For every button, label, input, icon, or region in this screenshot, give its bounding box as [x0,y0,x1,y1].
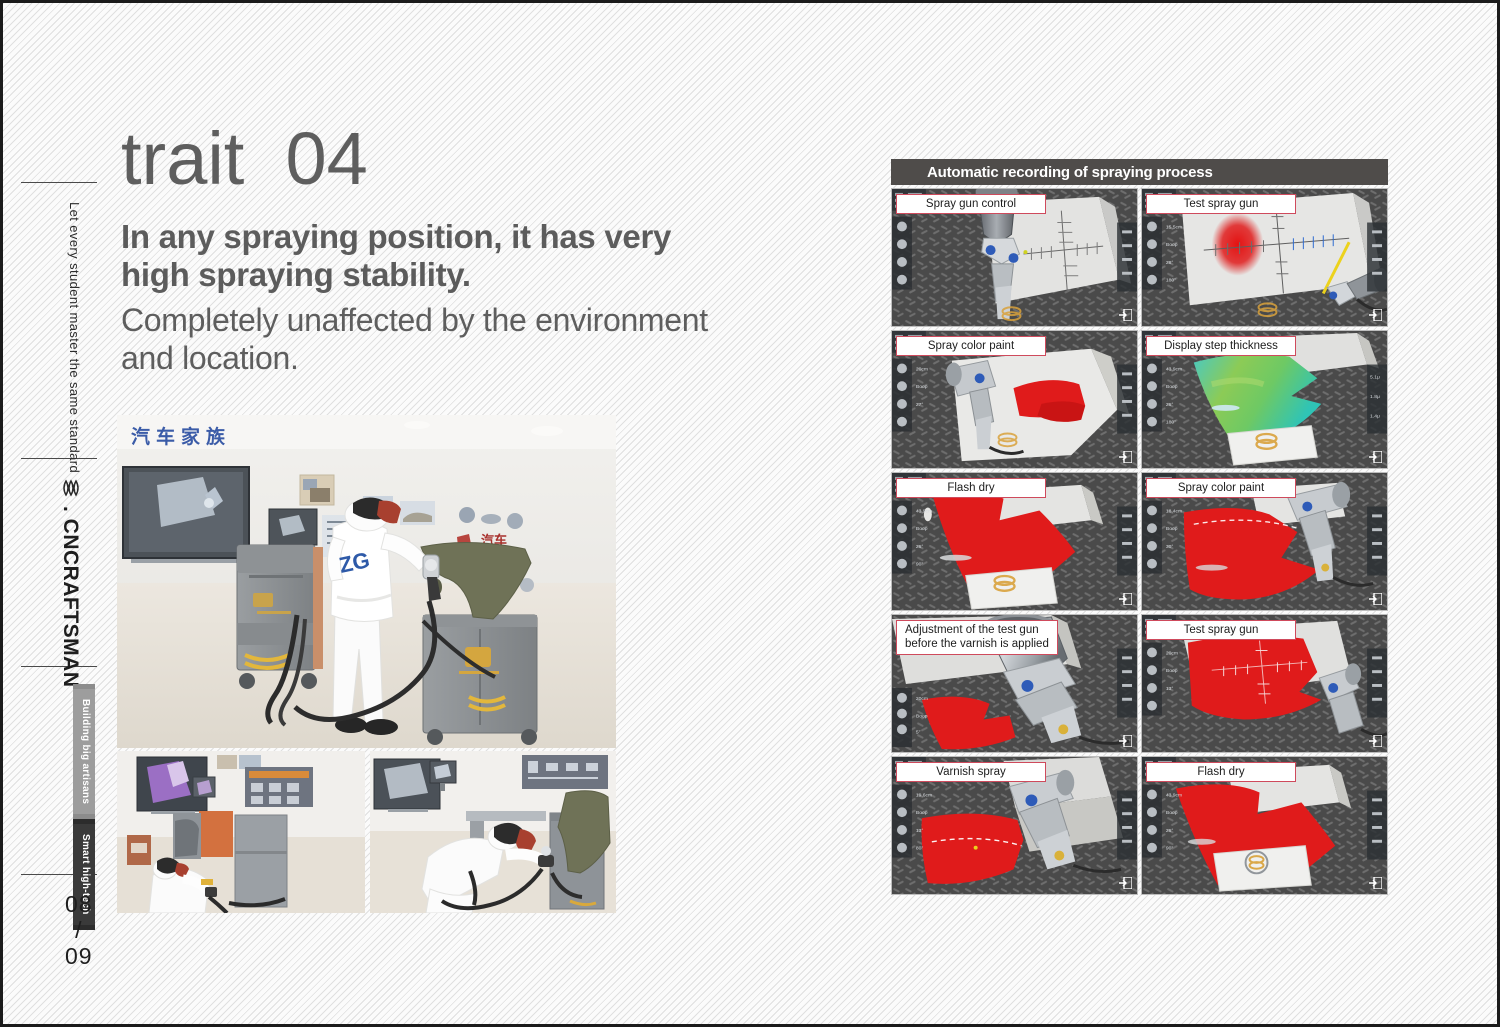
exit-icon[interactable] [1369,451,1382,463]
brochure-page: Let every student master the same standa… [0,0,1500,1027]
exit-icon[interactable] [1369,735,1382,747]
rail-brand-block: . CNCRAFTSMAN [57,476,83,687]
cell-label: Adjustment of the test gun before the va… [896,620,1058,655]
rail-divider-top [21,182,97,183]
rail-brand-name: . CNCRAFTSMAN [58,506,82,687]
simulator-header-title: Automatic recording of spraying process [891,159,1388,185]
svg-text:1.4μ: 1.4μ [1370,414,1380,420]
photo-bending-spray-position [370,751,616,913]
svg-text:26°: 26° [1166,402,1174,408]
sim-cell-spray-color-paint-start[interactable]: 20cmBoop 27° Spray color paint [891,330,1138,469]
svg-text:43.9cm: 43.9cm [1166,366,1182,372]
photo-crouching-spray-position [117,751,365,913]
svg-text:27°: 27° [916,402,924,408]
svg-text:180°: 180° [1166,420,1176,426]
svg-text:20cm: 20cm [916,366,928,372]
wall-banner-text: 汽车家族 [131,425,231,448]
sim-cell-flash-dry-final[interactable]: 43.9cmBoop 26°90° Flash dry [1141,756,1388,895]
svg-text:Boop: Boop [1166,242,1178,248]
svg-text:43.9cm: 43.9cm [1166,792,1182,798]
cell-label: Varnish spray [896,762,1046,782]
svg-text:20cm: 20cm [1166,650,1178,656]
sim-cell-spray-color-paint-gun[interactable]: 18.4cmBoop 30° Spray color paint [1141,472,1388,611]
cell-label: Spray color paint [1146,478,1296,498]
page-number: 08 / 09 [65,892,93,969]
cell-label: Display step thickness [1146,336,1296,356]
svg-text:180°: 180° [1166,278,1176,284]
exit-icon[interactable] [1119,451,1132,463]
svg-text:26°: 26° [916,544,924,550]
exit-icon[interactable] [1119,593,1132,605]
exit-icon[interactable] [1119,877,1132,889]
svg-text:19.6cm: 19.6cm [916,792,932,798]
left-vertical-rail: Let every student master the same standa… [21,6,113,1027]
page-title: trait 04 [121,123,721,196]
sim-cell-flash-dry[interactable]: 43.9cmBoop 26°90° Flash dry [891,472,1138,611]
svg-text:Boop: Boop [916,714,928,720]
sim-cell-test-spray-gun[interactable]: 15.5cmBoop 28°180° Test spray gun [1141,188,1388,327]
svg-text:13°: 13° [1166,686,1174,692]
cell-label: Test spray gun [1146,620,1296,640]
sim-cell-display-step-thickness[interactable]: 43.9cmBoop 26°180° 5.1μ1.8μ1.4μ Display … [1141,330,1388,469]
svg-text:Boop: Boop [916,526,928,532]
lede-paragraph: In any spraying position, it has very hi… [121,218,721,295]
svg-text:1.8μ: 1.8μ [1370,394,1380,400]
cell-label: Flash dry [1146,762,1296,782]
rail-divider-mid [21,458,97,459]
svg-text:Boop: Boop [1166,384,1178,390]
svg-text:13°: 13° [916,828,924,834]
svg-text:26°: 26° [1166,828,1174,834]
svg-text:18.4cm: 18.4cm [1166,508,1182,514]
cell-label: Spray gun control [896,194,1046,214]
cell-label: Flash dry [896,478,1046,498]
photo-vr-spray-training-lab: 汽车家族 [117,415,616,748]
svg-text:80°: 80° [916,846,924,852]
svg-text:90°: 90° [1166,846,1174,852]
cell-label: Test spray gun [1146,194,1296,214]
cell-label: Spray color paint [896,336,1046,356]
exit-icon[interactable] [1369,877,1382,889]
sim-cell-test-spray-gun-crosshair[interactable]: 20cmBoop13° Test spray gun [1141,614,1388,753]
simulator-panel: Automatic recording of spraying process [891,159,1388,894]
rail-chip-building-big-artisans: Building big artisans [73,689,95,814]
svg-text:30°: 30° [1166,544,1174,550]
exit-icon[interactable] [1369,593,1382,605]
svg-text:Boop: Boop [1166,668,1178,674]
svg-text:5.1μ: 5.1μ [1370,374,1380,380]
simulator-screenshot-grid: Spray gun control [891,188,1388,895]
editorial-column: trait 04 In any spraying position, it ha… [121,123,721,378]
rail-tagline: Let every student master the same standa… [67,202,82,473]
svg-text:20cm: 20cm [916,696,928,702]
svg-text:90°: 90° [916,562,924,568]
sim-cell-varnish-spray[interactable]: 19.6cmBoop 13°80° Varnish spray [891,756,1138,895]
exit-icon[interactable] [1119,309,1132,321]
svg-text:28°: 28° [1166,260,1174,266]
svg-text:43.9cm: 43.9cm [916,508,932,514]
cncraftsman-logo-icon [57,476,83,502]
svg-text:Boop: Boop [1166,526,1178,532]
exit-icon[interactable] [1369,309,1382,321]
svg-text:Boop: Boop [1166,810,1178,816]
exit-icon[interactable] [1119,735,1132,747]
svg-text:15.5cm: 15.5cm [1166,224,1182,230]
sim-cell-test-gun-adjustment[interactable]: 20cmBoop5° Adjustment of the test gun be… [891,614,1138,753]
svg-text:Boop: Boop [916,810,928,816]
svg-text:5°: 5° [916,729,921,735]
subhead-paragraph: Completely unaffected by the environment… [121,301,721,378]
svg-text:Boop: Boop [916,384,928,390]
sim-cell-spray-gun-control[interactable]: Spray gun control [891,188,1138,327]
